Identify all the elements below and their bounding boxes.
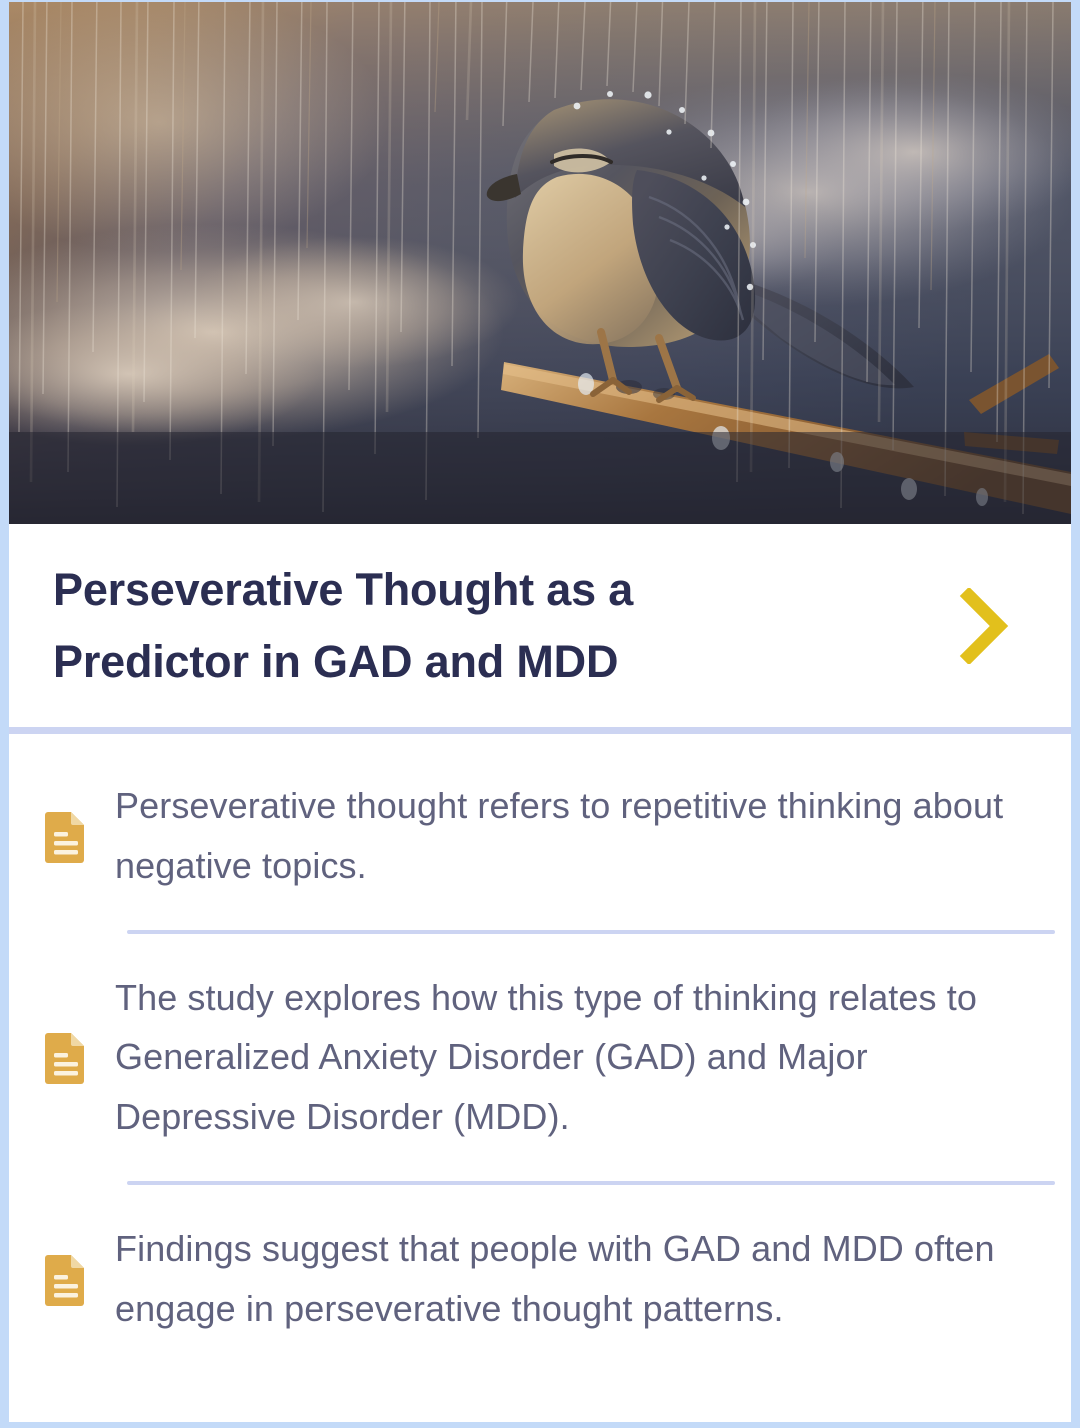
document-icon-glyph	[43, 808, 89, 864]
list-item: The study explores how this type of thin…	[35, 934, 1045, 1181]
summary-bullet-list: Perseverative thought refers to repetiti…	[9, 734, 1071, 1422]
chevron-right-glyph	[957, 588, 1013, 664]
document-icon	[43, 1029, 89, 1085]
list-item-text: Perseverative thought refers to repetiti…	[115, 776, 1045, 896]
card-header[interactable]: Perseverative Thought as a Predictor in …	[9, 524, 1071, 734]
list-item: Findings suggest that people with GAD an…	[35, 1185, 1045, 1373]
hero-image-rainy-bird	[9, 2, 1071, 524]
document-icon-glyph	[43, 1251, 89, 1307]
document-icon	[43, 808, 89, 864]
hero-illustration	[9, 2, 1071, 524]
page-title: Perseverative Thought as a Predictor in …	[53, 554, 783, 696]
document-icon	[43, 1251, 89, 1307]
list-item-text: The study explores how this type of thin…	[115, 968, 1045, 1147]
list-item-text: Findings suggest that people with GAD an…	[115, 1219, 1045, 1339]
document-icon-glyph	[43, 1029, 89, 1085]
article-summary-card: Perseverative Thought as a Predictor in …	[0, 0, 1080, 1428]
chevron-right-icon[interactable]	[957, 588, 1013, 664]
list-item: Perseverative thought refers to repetiti…	[35, 734, 1045, 930]
